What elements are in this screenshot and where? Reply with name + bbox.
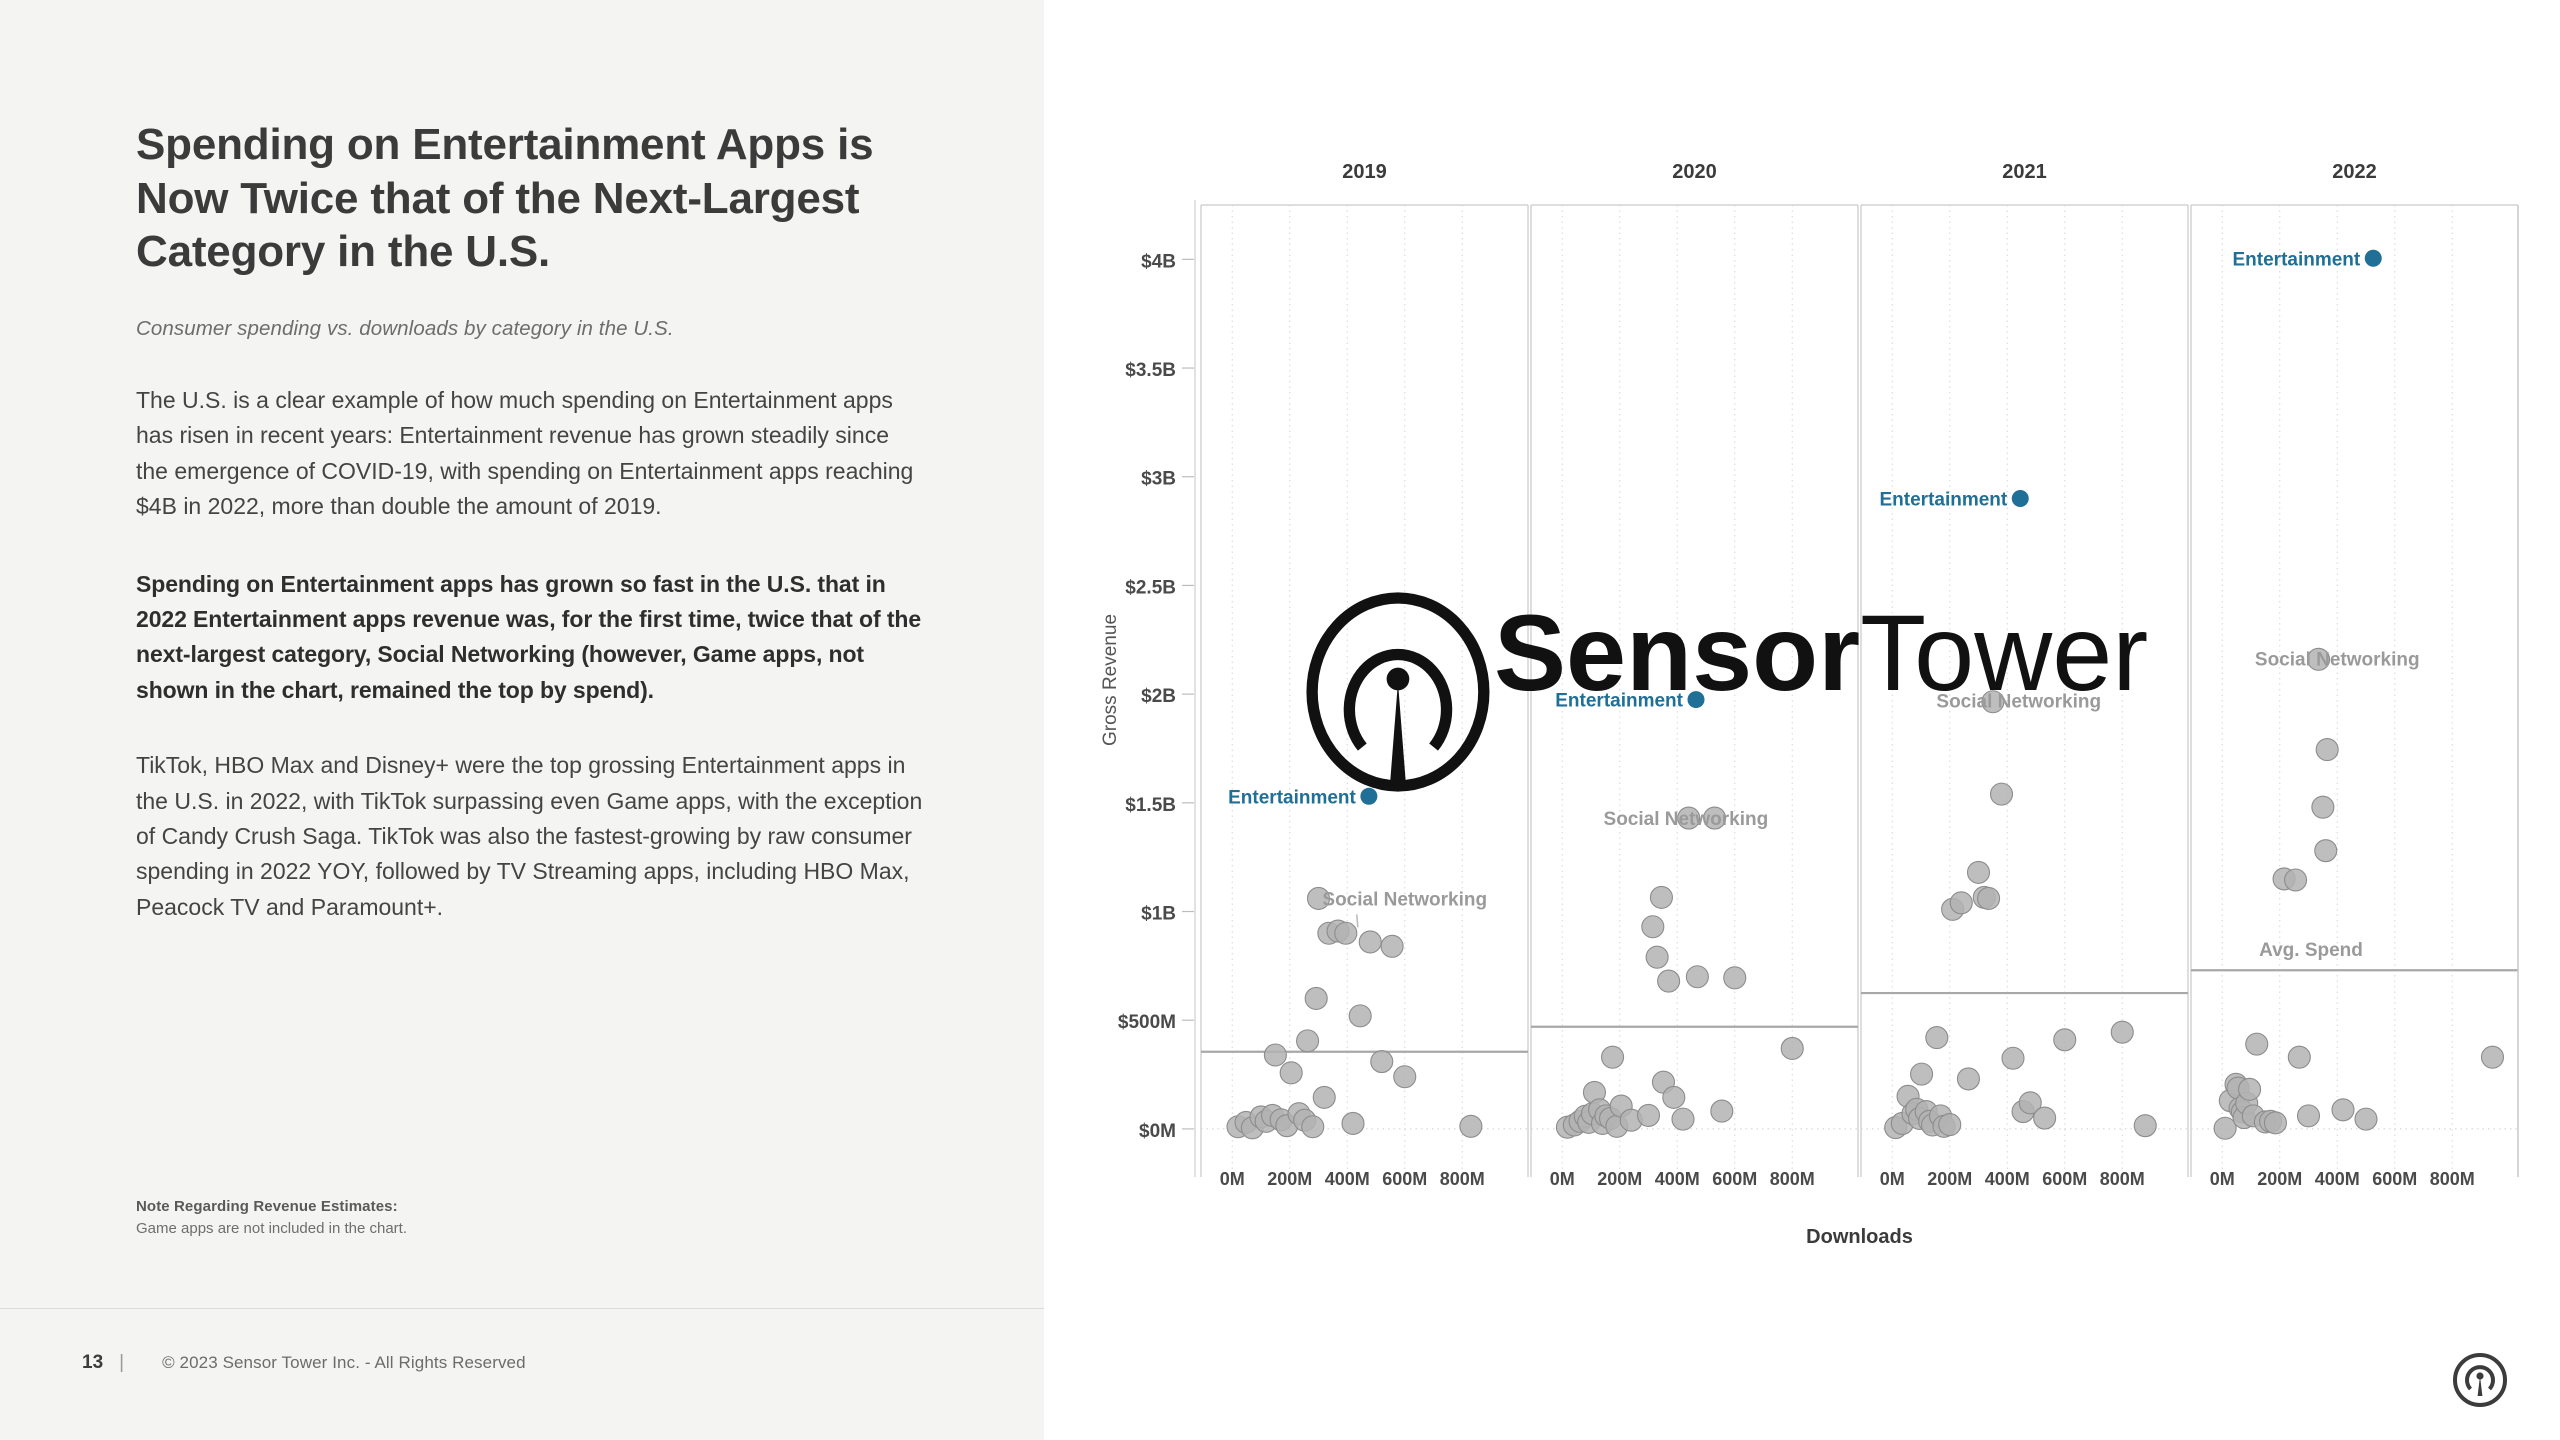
data-point[interactable] (1781, 1037, 1803, 1059)
data-point[interactable] (1650, 886, 1672, 908)
data-point[interactable] (2285, 869, 2307, 891)
y-axis-tick-label: $2B (1141, 686, 1176, 707)
data-point[interactable] (2315, 840, 2337, 862)
footer: 13 | © 2023 Sensor Tower Inc. - All Righ… (82, 1352, 526, 1374)
x-axis-tick-label: 0M (2210, 1169, 2235, 1189)
data-point[interactable] (2288, 1046, 2310, 1068)
y-axis-tick-label: $3B (1141, 469, 1176, 490)
data-point[interactable] (1724, 967, 1746, 989)
footer-divider-rule (0, 1308, 1044, 1309)
x-axis-tick-label: 800M (2430, 1169, 2475, 1189)
facet-year-label: 2019 (1342, 161, 1387, 183)
annotation-dot-entertainment (2365, 250, 2382, 267)
sensor-tower-logo-icon (1312, 598, 1484, 786)
body-paragraph-3: TikTok, HBO Max and Disney+ were the top… (136, 748, 926, 925)
data-point[interactable] (2111, 1021, 2133, 1043)
y-axis-tick-label: $1B (1141, 904, 1176, 925)
data-point[interactable] (1957, 1068, 1979, 1090)
data-point[interactable] (2054, 1029, 2076, 1051)
data-point[interactable] (1950, 892, 1972, 914)
data-point[interactable] (1968, 861, 1990, 883)
x-axis-tick-label: 0M (1880, 1169, 1905, 1189)
data-point[interactable] (1342, 1112, 1364, 1134)
data-point[interactable] (1663, 1086, 1685, 1108)
data-point[interactable] (1305, 987, 1327, 1009)
x-axis-tick-label: 200M (1267, 1169, 1312, 1189)
data-point[interactable] (1335, 922, 1357, 944)
data-point[interactable] (1911, 1063, 1933, 1085)
body-paragraph-1: The U.S. is a clear example of how much … (136, 383, 926, 525)
annotation-label-social-networking: Social Networking (2255, 649, 2420, 670)
annotation-label-entertainment: Entertainment (2233, 249, 2361, 270)
data-point[interactable] (2316, 739, 2338, 761)
x-axis-tick-label: 800M (2100, 1169, 2145, 1189)
x-axis-tick-label: 400M (1325, 1169, 1370, 1189)
x-axis-tick-label: 800M (1770, 1169, 1815, 1189)
x-axis-tick-label: 200M (1597, 1169, 1642, 1189)
y-axis-tick-label: $4B (1141, 251, 1176, 272)
data-point[interactable] (1349, 1005, 1371, 1027)
annotation-leader-line (1357, 914, 1358, 927)
annotation-label-entertainment: Entertainment (1228, 787, 1356, 808)
watermark-text-light: Tower (1860, 592, 2148, 713)
y-axis-tick-label: $1.5B (1125, 795, 1176, 816)
data-point[interactable] (1371, 1051, 1393, 1073)
x-axis-tick-label: 0M (1220, 1169, 1245, 1189)
data-point[interactable] (2246, 1033, 2268, 1055)
data-point[interactable] (2002, 1047, 2024, 1069)
x-axis-tick-label: 600M (2042, 1169, 2087, 1189)
data-point[interactable] (2034, 1107, 2056, 1129)
data-point[interactable] (2264, 1112, 2286, 1134)
y-axis-tick-label: $0M (1139, 1121, 1176, 1142)
note-block: Note Regarding Revenue Estimates: Game a… (136, 1198, 756, 1237)
x-axis-tick-label: 400M (1985, 1169, 2030, 1189)
data-point[interactable] (1658, 970, 1680, 992)
logo-antenna-mast (1390, 682, 1406, 786)
x-axis-tick-label: 400M (2315, 1169, 2360, 1189)
data-point[interactable] (1926, 1027, 1948, 1049)
x-axis-tick-label: 600M (2372, 1169, 2417, 1189)
y-axis-tick-label: $500M (1118, 1012, 1176, 1033)
data-point[interactable] (2214, 1117, 2236, 1139)
data-point[interactable] (1313, 1086, 1335, 1108)
annotation-label-entertainment: Entertainment (1880, 489, 2008, 510)
x-axis-tick-label: 800M (1440, 1169, 1485, 1189)
data-point[interactable] (1297, 1030, 1319, 1052)
y-axis-tick-label: $3.5B (1125, 360, 1176, 381)
data-point[interactable] (1711, 1100, 1733, 1122)
page-subtitle: Consumer spending vs. downloads by categ… (136, 317, 936, 341)
data-point[interactable] (1394, 1066, 1416, 1088)
x-axis-title: Downloads (1806, 1226, 1913, 1248)
watermark-text: SensorTower (1494, 592, 2148, 713)
data-point[interactable] (2332, 1099, 2354, 1121)
annotation-dot-entertainment (2012, 490, 2029, 507)
x-axis-tick-label: 400M (1655, 1169, 1700, 1189)
sensor-tower-logo-icon[interactable] (2448, 1348, 2512, 1412)
facet-year-label: 2020 (1672, 161, 1717, 183)
y-axis-title: Gross Revenue (1100, 614, 1121, 746)
data-point[interactable] (1602, 1046, 1624, 1068)
data-point[interactable] (2239, 1078, 2261, 1100)
watermark-text-bold: Sensor (1494, 592, 1860, 713)
avg-spend-label: Avg. Spend (2259, 940, 2363, 961)
y-axis-tick-label: $2.5B (1125, 577, 1176, 598)
chart-panel: $0M$500M$1B$1.5B$2B$2.5B$3B$3.5B$4BGross… (1044, 0, 2560, 1440)
data-point[interactable] (2482, 1046, 2504, 1068)
note-text: Game apps are not included in the chart. (136, 1220, 756, 1237)
page-number: 13 (82, 1352, 103, 1374)
data-point[interactable] (1280, 1062, 1302, 1084)
annotation-dot-entertainment (1360, 788, 1377, 805)
annotation-label-social-networking: Social Networking (1322, 889, 1487, 910)
data-point[interactable] (2312, 796, 2334, 818)
annotation-label-social-networking: Social Networking (1604, 809, 1769, 830)
left-text-panel: Spending on Entertainment Apps is Now Tw… (0, 0, 1044, 1440)
footer-pipe-divider: | (119, 1352, 124, 1374)
data-point[interactable] (1302, 1116, 1324, 1138)
x-axis-tick-label: 0M (1550, 1169, 1575, 1189)
data-point[interactable] (1381, 935, 1403, 957)
left-content: Spending on Entertainment Apps is Now Tw… (136, 118, 936, 925)
copyright-text: © 2023 Sensor Tower Inc. - All Rights Re… (162, 1353, 526, 1373)
x-axis-tick-label: 600M (1382, 1169, 1427, 1189)
watermark-logo: SensorTower (1312, 592, 2148, 786)
body-paragraph-2: Spending on Entertainment apps has grown… (136, 567, 926, 709)
data-point[interactable] (2134, 1115, 2156, 1137)
data-point[interactable] (1991, 783, 2013, 805)
note-title: Note Regarding Revenue Estimates: (136, 1198, 756, 1215)
data-point[interactable] (1978, 887, 2000, 909)
data-point[interactable] (2355, 1108, 2377, 1130)
x-axis-tick-label: 600M (1712, 1169, 1757, 1189)
facet-year-label: 2022 (2332, 161, 2377, 183)
data-point[interactable] (1672, 1108, 1694, 1130)
x-axis-tick-label: 200M (2257, 1169, 2302, 1189)
data-point[interactable] (1359, 931, 1381, 953)
data-point[interactable] (1646, 946, 1668, 968)
data-point[interactable] (1264, 1044, 1286, 1066)
page-title: Spending on Entertainment Apps is Now Tw… (136, 118, 936, 279)
data-point[interactable] (1642, 916, 1664, 938)
data-point[interactable] (1460, 1115, 1482, 1137)
data-point[interactable] (2298, 1105, 2320, 1127)
data-point[interactable] (1686, 966, 1708, 988)
data-point[interactable] (1939, 1114, 1961, 1136)
scatter-chart: $0M$500M$1B$1.5B$2B$2.5B$3B$3.5B$4BGross… (1044, 0, 2560, 1440)
x-axis-tick-label: 200M (1927, 1169, 1972, 1189)
facet-year-label: 2021 (2002, 161, 2047, 183)
data-point[interactable] (1638, 1104, 1660, 1126)
